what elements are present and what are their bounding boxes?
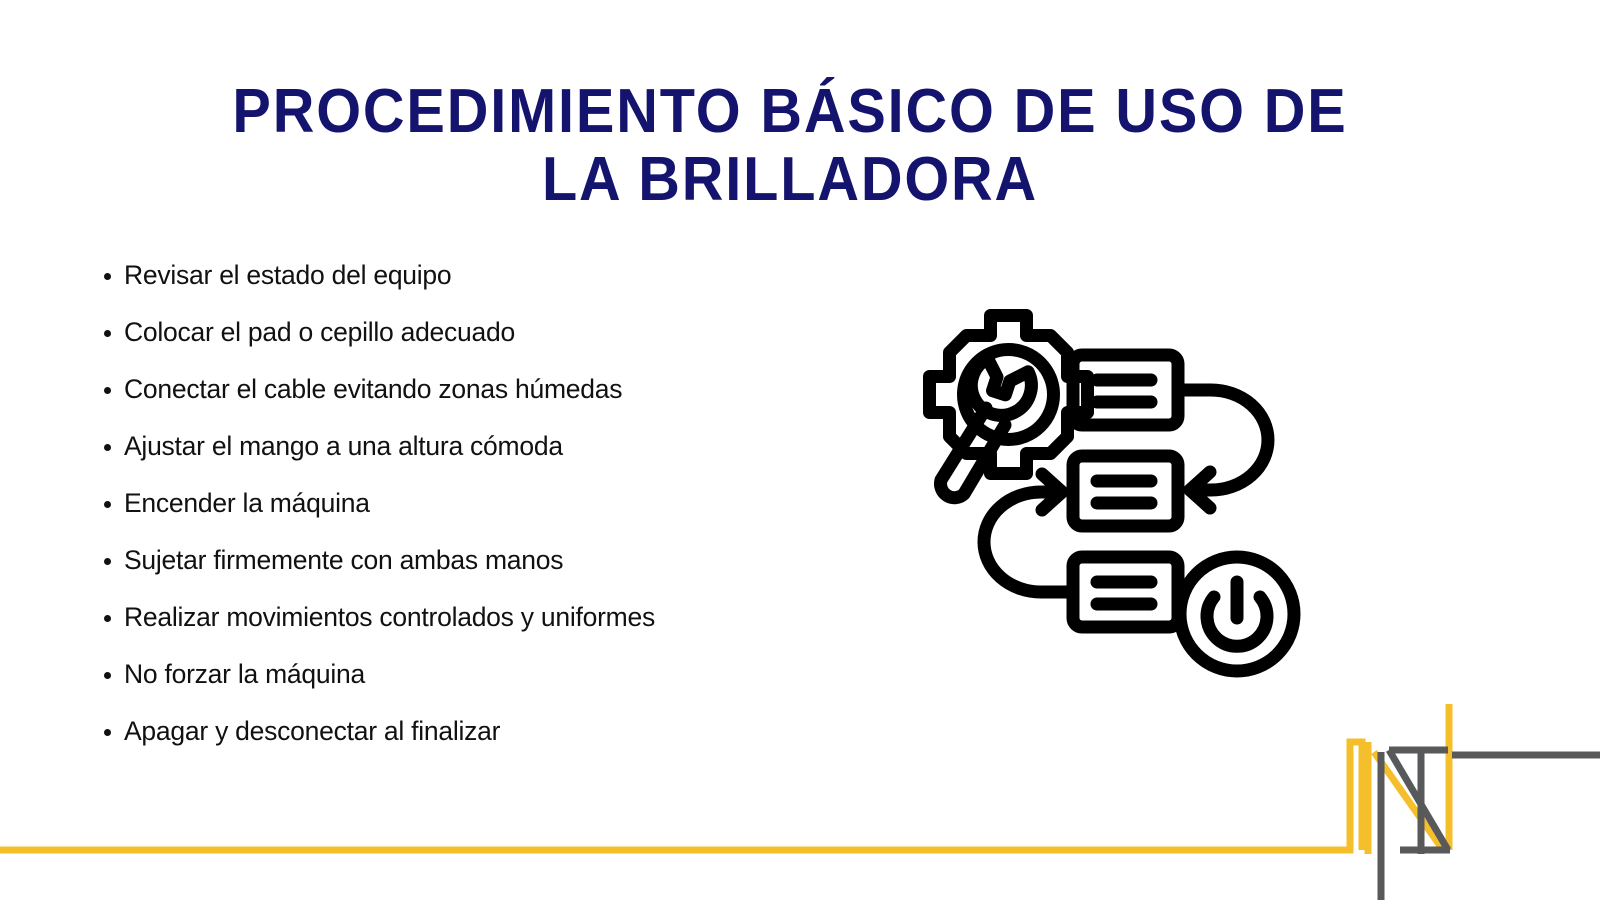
bullet-dot-icon (104, 657, 124, 691)
list-item-label: Conectar el cable evitando zonas húmedas (124, 372, 804, 406)
list-item-label: Ajustar el mango a una altura cómoda (124, 429, 804, 463)
bullet-dot-icon (104, 486, 124, 520)
bullet-dot-icon (104, 315, 124, 349)
document-box-bottom (1073, 557, 1178, 627)
bullet-dot-icon (104, 600, 124, 634)
list-item-label: Colocar el pad o cepillo adecuado (124, 315, 804, 349)
list-item: Realizar movimientos controlados y unifo… (104, 600, 804, 657)
yellow-logo-diagonal (1374, 752, 1443, 850)
list-item-label: No forzar la máquina (124, 657, 804, 691)
gear-wrench-icon (930, 316, 1088, 498)
list-item: Colocar el pad o cepillo adecuado (104, 315, 804, 372)
slide-canvas: PROCEDIMIENTO BÁSICO DE USO DE LA BRILLA… (0, 0, 1600, 900)
list-item-label: Realizar movimientos controlados y unifo… (124, 600, 804, 634)
list-item: Apagar y desconectar al finalizar (104, 714, 804, 771)
list-item-label: Apagar y desconectar al finalizar (124, 714, 804, 748)
list-item-label: Revisar el estado del equipo (124, 258, 804, 292)
bullet-dot-icon (104, 372, 124, 406)
curved-arrow-left (1178, 390, 1268, 508)
list-item: No forzar la máquina (104, 657, 804, 714)
gray-logo-diagonal (1389, 750, 1448, 850)
curved-arrow-right (984, 474, 1073, 592)
power-button-icon (1180, 557, 1294, 671)
list-item: Conectar el cable evitando zonas húmedas (104, 372, 804, 429)
document-box-middle (1073, 456, 1178, 526)
list-item: Ajustar el mango a una altura cómoda (104, 429, 804, 486)
list-item-label: Encender la máquina (124, 486, 804, 520)
list-item: Encender la máquina (104, 486, 804, 543)
bullet-dot-icon (104, 258, 124, 292)
list-item: Sujetar firmemente con ambas manos (104, 543, 804, 600)
bullet-dot-icon (104, 543, 124, 577)
list-item-label: Sujetar firmemente con ambas manos (124, 543, 804, 577)
process-workflow-illustration (845, 292, 1315, 684)
bullet-dot-icon (104, 429, 124, 463)
procedure-bullet-list: Revisar el estado del equipo Colocar el … (104, 258, 804, 771)
bullet-dot-icon (104, 714, 124, 748)
page-title: PROCEDIMIENTO BÁSICO DE USO DE LA BRILLA… (223, 78, 1358, 214)
list-item: Revisar el estado del equipo (104, 258, 804, 315)
